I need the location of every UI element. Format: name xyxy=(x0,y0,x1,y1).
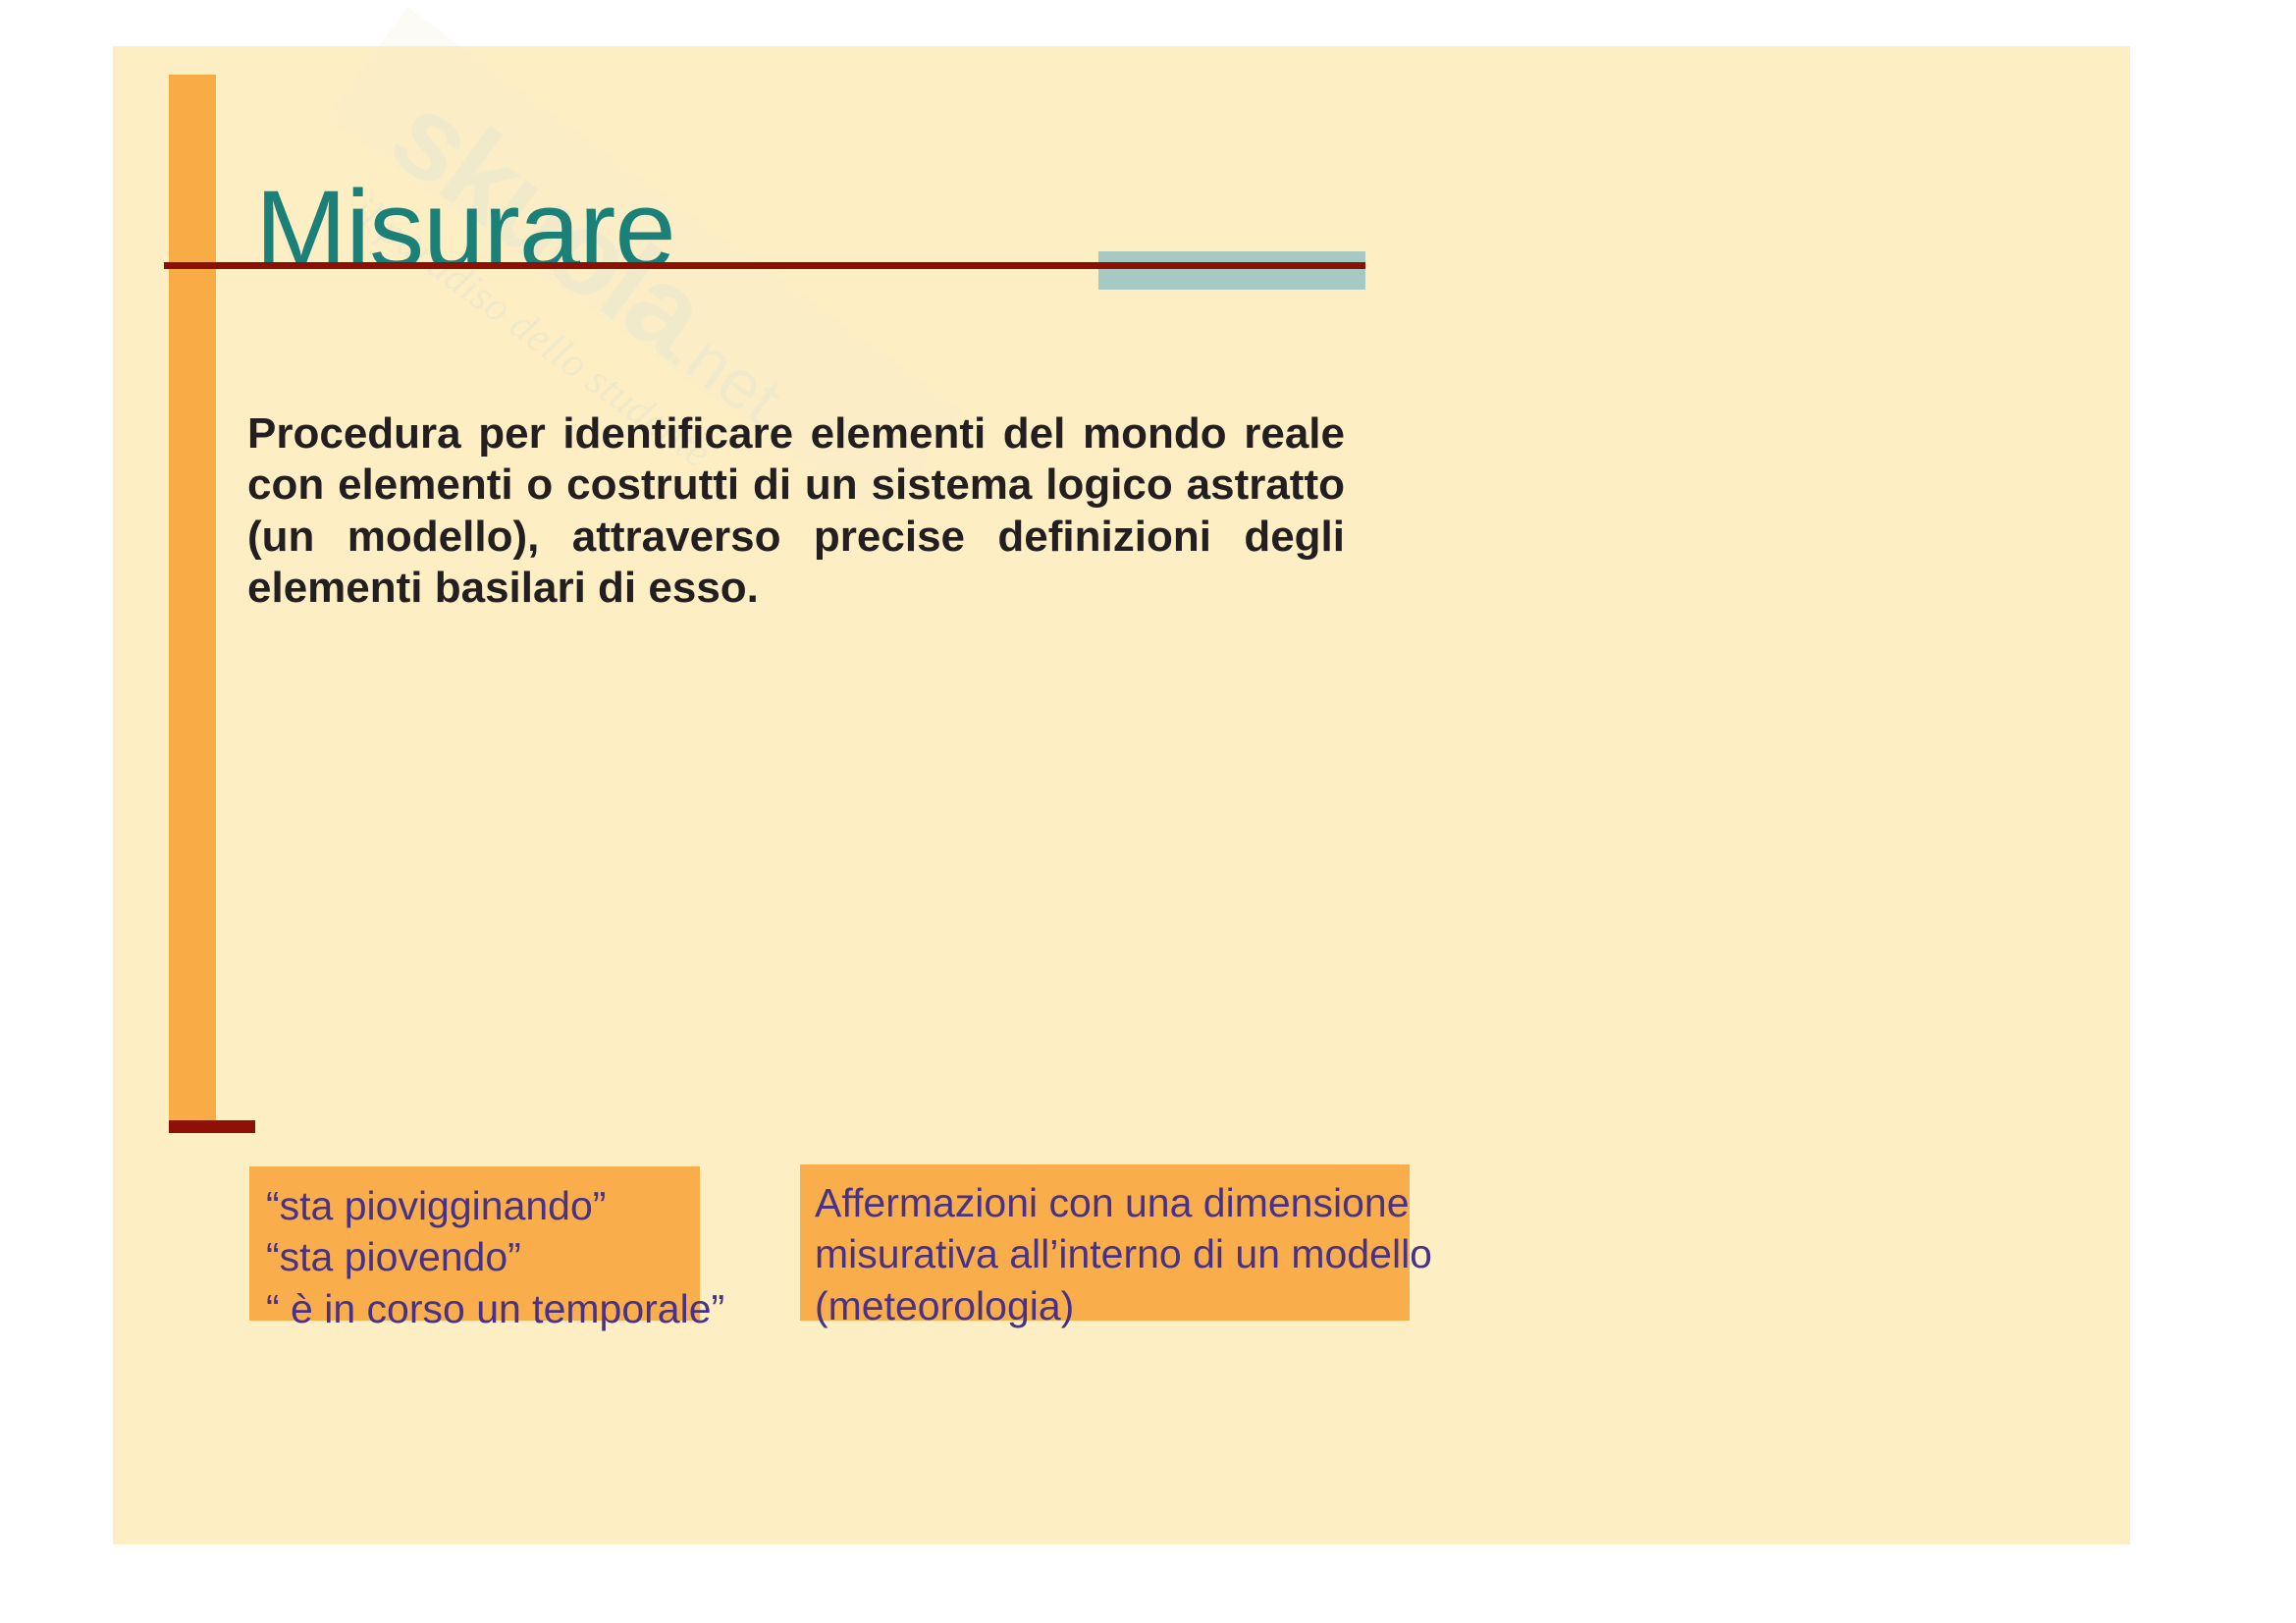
sidebar-bottom-rule xyxy=(169,1120,255,1133)
body-paragraph: Procedura per identificare elementi del … xyxy=(247,408,1345,614)
divider-rule xyxy=(164,262,1365,269)
callout-left-line-1: “sta piovigginando” xyxy=(266,1180,700,1231)
slide-canvas: skuola.net il paradiso dello studente Mi… xyxy=(113,46,2130,1544)
sidebar-accent-bar xyxy=(169,75,216,1120)
divider-teal-block xyxy=(1098,251,1365,290)
page-title: Misurare xyxy=(255,172,675,288)
callout-explanation: Affermazioni con una dimensione misurati… xyxy=(800,1164,1410,1321)
callout-right-line-1: Affermazioni con una dimensione xyxy=(815,1177,1410,1228)
callout-right-line-3: (meteorologia) xyxy=(815,1280,1410,1331)
callout-left-line-2: “sta piovendo” xyxy=(266,1231,700,1282)
callout-left-line-3: “ è in corso un temporale” xyxy=(266,1283,700,1334)
callout-examples: “sta piovigginando” “sta piovendo” “ è i… xyxy=(249,1166,700,1321)
callout-right-line-2: misurativa all’interno di un modello xyxy=(815,1228,1410,1279)
